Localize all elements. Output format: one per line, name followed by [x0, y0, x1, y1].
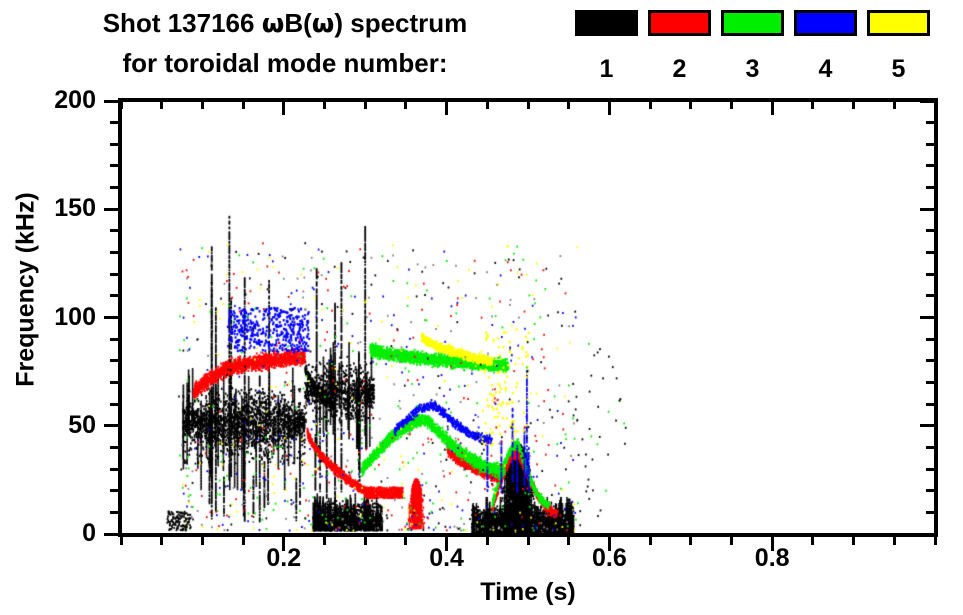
y-tick-right	[926, 143, 938, 146]
x-tick-top	[608, 98, 611, 115]
x-tick-top	[445, 98, 448, 115]
y-tick-right	[926, 164, 938, 167]
x-tick-minor	[160, 534, 163, 545]
y-tick-right	[926, 359, 938, 362]
x-tick-minor	[323, 534, 326, 545]
y-tick-major	[104, 424, 122, 427]
y-tick-right	[926, 229, 938, 232]
x-tick-top	[893, 98, 896, 109]
legend-label-1: 1	[575, 54, 638, 84]
x-tick-top	[771, 98, 774, 115]
x-tick-top	[282, 98, 285, 115]
y-tick-right	[920, 316, 938, 319]
y-tick-label-0: 0	[26, 521, 96, 546]
y-tick-major	[104, 208, 122, 211]
y-tick-right	[926, 381, 938, 384]
y-tick-minor	[110, 273, 122, 276]
x-tick-minor	[364, 534, 367, 545]
legend-label-5: 5	[867, 54, 930, 84]
x-tick-top	[689, 98, 692, 109]
legend-swatch-5	[867, 10, 930, 36]
title-prefix: Shot 137166	[103, 8, 262, 38]
legend-swatch-2	[648, 10, 711, 36]
y-tick-minor	[110, 186, 122, 189]
y-tick-right	[926, 468, 938, 471]
y-tick-major	[104, 316, 122, 319]
x-tick-top	[120, 98, 123, 109]
y-tick-right	[926, 121, 938, 124]
x-tick-minor	[649, 534, 652, 545]
y-tick-minor	[110, 164, 122, 167]
y-tick-minor	[110, 251, 122, 254]
x-tick-label-0.4: 0.4	[402, 546, 492, 571]
y-tick-minor	[110, 229, 122, 232]
x-tick-top	[567, 98, 570, 109]
y-tick-right	[926, 338, 938, 341]
x-tick-minor	[730, 534, 733, 545]
x-tick-label-0.6: 0.6	[564, 546, 654, 571]
y-tick-right	[926, 251, 938, 254]
y-axis-title: Frequency (kHz)	[12, 160, 41, 420]
x-tick-minor	[242, 534, 245, 545]
x-tick-minor	[567, 534, 570, 545]
x-tick-top	[160, 98, 163, 109]
y-tick-right	[926, 186, 938, 189]
x-tick-top	[649, 98, 652, 109]
x-tick-minor	[527, 534, 530, 545]
legend-label-4: 4	[794, 54, 857, 84]
x-tick-minor	[486, 534, 489, 545]
x-tick-top	[527, 98, 530, 109]
title-suffix: ) spectrum	[334, 8, 467, 38]
y-tick-minor	[110, 338, 122, 341]
legend-label-row: 12345	[575, 54, 930, 84]
x-tick-minor	[201, 534, 204, 545]
x-tick-minor	[120, 534, 123, 545]
x-tick-top	[811, 98, 814, 109]
legend-label-3: 3	[721, 54, 784, 84]
x-tick-minor	[404, 534, 407, 545]
y-tick-minor	[110, 468, 122, 471]
y-tick-right	[926, 273, 938, 276]
legend-swatch-1	[575, 10, 638, 36]
y-tick-minor	[110, 121, 122, 124]
y-tick-right	[926, 403, 938, 406]
y-tick-right	[926, 294, 938, 297]
x-tick-minor	[852, 534, 855, 545]
y-tick-minor	[110, 489, 122, 492]
x-tick-top	[201, 98, 204, 109]
x-tick-label-0.2: 0.2	[239, 546, 329, 571]
x-tick-minor	[689, 534, 692, 545]
x-tick-top	[404, 98, 407, 109]
omega-symbol-2: ω	[312, 9, 335, 39]
x-tick-top	[852, 98, 855, 109]
plot-area	[121, 101, 935, 534]
x-tick-top	[486, 98, 489, 109]
y-tick-minor	[110, 143, 122, 146]
x-tick-label-0.8: 0.8	[727, 546, 817, 571]
y-tick-minor	[110, 359, 122, 362]
y-tick-right	[920, 424, 938, 427]
x-tick-minor	[811, 534, 814, 545]
y-tick-right	[926, 446, 938, 449]
y-tick-minor	[110, 446, 122, 449]
y-tick-minor	[110, 403, 122, 406]
title-mid: B(	[284, 8, 311, 38]
y-tick-minor	[110, 511, 122, 514]
legend-label-2: 2	[648, 54, 711, 84]
y-tick-right	[926, 511, 938, 514]
x-tick-top	[364, 98, 367, 109]
legend-swatch-3	[721, 10, 784, 36]
spectrogram-figure: Shot 137166 ωB(ω) spectrum for toroidal …	[0, 0, 963, 615]
x-tick-top	[934, 98, 937, 109]
x-tick-minor	[893, 534, 896, 545]
legend-swatch-4	[794, 10, 857, 36]
x-tick-top	[242, 98, 245, 109]
y-tick-right	[920, 208, 938, 211]
y-tick-minor	[110, 294, 122, 297]
y-tick-label-200: 200	[26, 88, 96, 113]
title-line-2: for toroidal mode number:	[0, 44, 570, 83]
spectrogram-canvas	[121, 101, 935, 534]
figure-title: Shot 137166 ωB(ω) spectrum for toroidal …	[0, 4, 570, 83]
legend-swatch-row	[575, 10, 930, 36]
y-tick-minor	[110, 381, 122, 384]
x-tick-top	[730, 98, 733, 109]
x-tick-top	[323, 98, 326, 109]
y-tick-right	[926, 489, 938, 492]
x-tick-minor	[934, 534, 937, 545]
title-line-1: Shot 137166 ωB(ω) spectrum	[0, 4, 570, 44]
legend: 12345	[575, 10, 960, 90]
x-axis-title: Time (s)	[121, 578, 935, 607]
omega-symbol-1: ω	[262, 9, 285, 39]
